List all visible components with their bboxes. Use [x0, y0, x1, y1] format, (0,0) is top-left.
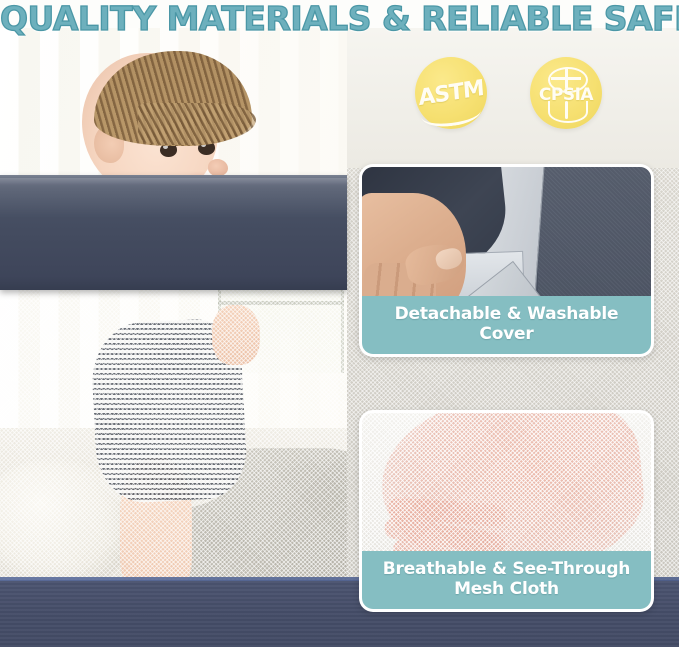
astm-badge: ASTM — [415, 57, 487, 129]
playpen-top-rail — [0, 175, 347, 290]
detachable-cover-photo — [362, 167, 651, 296]
cpsia-badge-label: CPSIA — [530, 85, 602, 105]
page-title: QUALITY MATERIALS & RELIABLE SAFETY — [0, 0, 679, 40]
mesh-cloth-photo — [362, 413, 651, 551]
detachable-cover-caption: Detachable & Washable Cover — [362, 296, 651, 354]
baby — [60, 43, 290, 583]
cover-fabric-panel — [538, 167, 651, 296]
detachable-cover-card: Detachable & Washable Cover — [359, 164, 654, 357]
baby-nose — [208, 159, 228, 176]
mesh-cloth-caption-line1: Breathable & See-Through — [383, 559, 630, 579]
mesh-fabric-overlay — [362, 413, 651, 551]
mesh-cloth-caption: Breathable & See-Through Mesh Cloth — [362, 551, 651, 609]
mesh-cloth-caption-line2: Mesh Cloth — [454, 579, 559, 599]
certification-badges: ASTM CPSIA — [415, 57, 625, 145]
page-title-text: QUALITY MATERIALS & RELIABLE SAFETY — [0, 0, 679, 38]
product-feature-graphic: QUALITY MATERIALS & RELIABLE SAFETY ASTM… — [0, 0, 679, 647]
mesh-cloth-card: Breathable & See-Through Mesh Cloth — [359, 410, 654, 612]
cpsia-badge: CPSIA — [530, 57, 602, 129]
baby-hair — [94, 51, 252, 146]
baby-arm — [212, 305, 260, 365]
